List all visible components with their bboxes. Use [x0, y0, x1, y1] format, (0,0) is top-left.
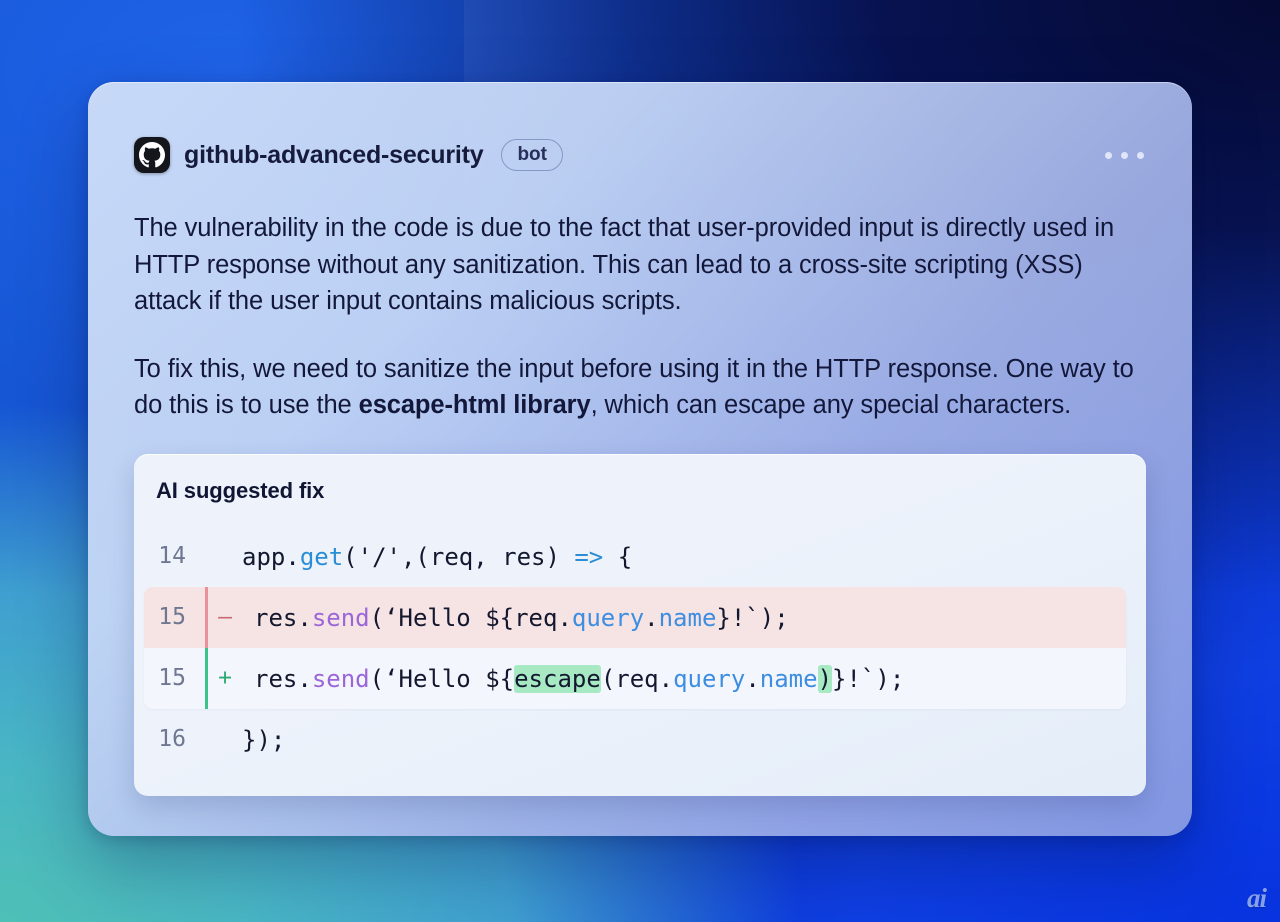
overflow-dot [1121, 152, 1128, 159]
diff-gutter-bar [205, 587, 208, 648]
github-octocat-icon [134, 137, 170, 173]
code-token-highlighted: escape [514, 665, 601, 693]
code-token: . [297, 665, 311, 693]
line-number: 16 [134, 728, 196, 751]
code-line-deletion: 15–res.send(‘Hello ${req.query.name}!`); [144, 587, 1126, 648]
code-token: name [659, 604, 717, 632]
code-token: name [760, 665, 818, 693]
code-token: . [285, 543, 299, 571]
code-token: (req. [601, 665, 673, 693]
code-line-addition: 15+res.send(‘Hello ${escape(req.query.na… [144, 648, 1126, 709]
overflow-dot [1137, 152, 1144, 159]
paragraph-text: The vulnerability in the code is due to … [134, 214, 1114, 315]
overflow-menu-icon[interactable] [1103, 146, 1146, 165]
emphasis-text: escape-html library [359, 391, 591, 419]
status-badge: bot [501, 139, 563, 172]
panel-title: AI suggested fix [134, 454, 1146, 504]
author-name: github-advanced-security [184, 141, 483, 170]
comment-header: github-advanced-security bot [134, 134, 1146, 176]
code-token: (‘Hello ${req. [370, 604, 572, 632]
suggested-fix-panel: AI suggested fix 14app.get('/',(req, res… [134, 454, 1146, 796]
body-paragraph: The vulnerability in the code is due to … [134, 210, 1149, 320]
diff-hunk: 15–res.send(‘Hello ${req.query.name}!`);… [144, 587, 1126, 709]
line-number: 15 [144, 667, 196, 690]
code-token: . [297, 604, 311, 632]
code-token: . [745, 665, 759, 693]
watermark-logo: ai [1247, 883, 1266, 914]
code-text: res.send(‘Hello ${escape(req.query.name)… [254, 667, 904, 691]
code-line-context: 16}); [134, 709, 1146, 770]
comment-card: github-advanced-security bot The vulnera… [88, 82, 1192, 836]
code-token: { [603, 543, 632, 571]
code-token: }); [242, 726, 285, 754]
code-token: send [312, 604, 370, 632]
code-token: res [254, 665, 297, 693]
code-token: app [242, 543, 285, 571]
code-line-context: 14app.get('/',(req, res) => { [134, 526, 1146, 587]
code-token: query [673, 665, 745, 693]
code-token: get [300, 543, 343, 571]
code-token: (‘Hello ${ [370, 665, 515, 693]
overflow-dot [1105, 152, 1112, 159]
code-text: }); [242, 728, 285, 752]
paragraph-text: , which can escape any special character… [591, 391, 1072, 419]
code-token: . [644, 604, 658, 632]
code-token: send [312, 665, 370, 693]
code-text: app.get('/',(req, res) => { [242, 545, 632, 569]
code-token: }!`); [716, 604, 788, 632]
diff-gutter-bar [205, 648, 208, 709]
diff-code-block: 14app.get('/',(req, res) => {15–res.send… [134, 526, 1146, 770]
code-token: query [572, 604, 644, 632]
code-token-highlighted: ) [818, 665, 832, 693]
comment-body: The vulnerability in the code is due to … [134, 210, 1162, 424]
line-number: 15 [144, 606, 196, 629]
body-paragraph: To fix this, we need to sanitize the inp… [134, 351, 1149, 424]
code-token: => [574, 543, 603, 571]
line-number: 14 [134, 545, 196, 568]
code-token: ('/',(req, res) [343, 543, 574, 571]
code-text: res.send(‘Hello ${req.query.name}!`); [254, 606, 789, 630]
code-token: }!`); [832, 665, 904, 693]
code-token: res [254, 604, 297, 632]
